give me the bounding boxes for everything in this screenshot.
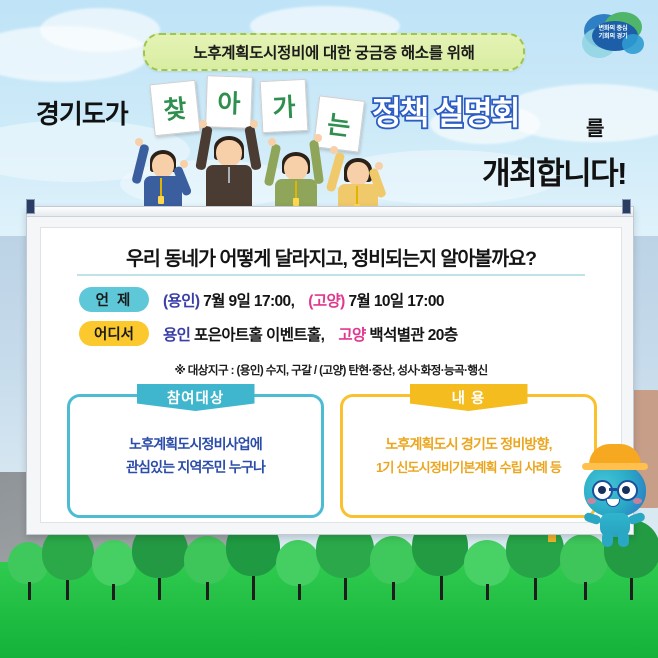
headline-title: 정책 설명회 — [372, 88, 519, 134]
gyeonggi-logo: 변화의 중심 기회의 경기 — [582, 12, 644, 62]
headline-prefix: 경기도가 — [36, 94, 128, 131]
headline-particle: 를 — [586, 112, 604, 141]
box-content-body: 노후계획도시 경기도 정비방향, 1기 신도시정비기본계획 수립 사례 등 — [343, 433, 594, 479]
panel-question: 우리 동네가 어떻게 달라지고, 정비되는지 알아볼까요? — [41, 242, 621, 271]
box-participants-line-1: 노후계획도시정비사업에 — [70, 433, 321, 456]
ribbon-text: 노후계획도시정비에 대한 궁금증 해소를 위해 — [193, 41, 474, 63]
mascot-cheek-left — [587, 498, 596, 504]
when-yongin-label: (용인) — [163, 293, 199, 310]
panel-divider — [77, 274, 585, 276]
target-districts-note: ※ 대상지구 : (용인) 수지, 구갈 / (고양) 탄현·중산, 성사·화정… — [41, 362, 621, 378]
when-badge: 언 제 — [79, 287, 149, 312]
mascot-leg-right — [618, 532, 629, 547]
mascot-leg-left — [602, 532, 613, 547]
top-ribbon-banner: 노후계획도시정비에 대한 궁금증 해소를 위해 — [143, 33, 525, 71]
when-goyang-time: 7월 10일 17:00 — [345, 293, 444, 310]
box-content-line-2: 1기 신도시정비기본계획 수립 사례 등 — [343, 456, 594, 479]
where-value: 용인 포은아트홀 이벤트홀,고양 백석별관 20층 — [163, 323, 457, 345]
billboard-clip-left — [26, 199, 35, 214]
billboard-clip-right — [622, 199, 631, 214]
logo-line-2: 기회의 경기 — [582, 33, 644, 41]
where-yongin-label: 용인 — [163, 327, 190, 344]
box-participants: 참여대상 노후계획도시정비사업에 관심있는 지역주민 누구나 — [67, 394, 324, 518]
info-boxes: 참여대상 노후계획도시정비사업에 관심있는 지역주민 누구나 내 용 노후계획도… — [67, 394, 597, 512]
when-yongin-time: 7월 9일 17:00, — [199, 293, 294, 310]
box-content: 내 용 노후계획도시 경기도 정비방향, 1기 신도시정비기본계획 수립 사례 … — [340, 394, 597, 518]
billboard-panel: 우리 동네가 어떻게 달라지고, 정비되는지 알아볼까요? 언 제 (용인) 7… — [26, 206, 634, 535]
when-value: (용인) 7월 9일 17:00,(고양) 7월 10일 17:00 — [163, 289, 444, 311]
headline-subtitle: 개최합니다! — [482, 148, 626, 193]
construction-mascot — [578, 444, 652, 548]
where-goyang-venue: 백석별관 20층 — [366, 327, 458, 344]
when-goyang-label: (고양) — [308, 293, 344, 310]
box-participants-header: 참여대상 — [137, 384, 255, 411]
box-participants-body: 노후계획도시정비사업에 관심있는 지역주민 누구나 — [70, 433, 321, 479]
panel-content: 우리 동네가 어떻게 달라지고, 정비되는지 알아볼까요? 언 제 (용인) 7… — [40, 227, 622, 523]
logo-text: 변화의 중심 기회의 경기 — [582, 25, 644, 42]
billboard-top-bar — [27, 207, 633, 217]
mascot-hardhat-brim — [582, 463, 648, 470]
box-content-line-1: 노후계획도시 경기도 정비방향, — [343, 433, 594, 456]
where-goyang-label: 고양 — [338, 327, 365, 344]
info-row-when: 언 제 (용인) 7월 9일 17:00,(고양) 7월 10일 17:00 — [79, 287, 444, 312]
where-badge: 어디서 — [79, 321, 149, 346]
info-row-where: 어디서 용인 포은아트홀 이벤트홀,고양 백석별관 20층 — [79, 321, 457, 346]
poster-root: 변화의 중심 기회의 경기 노후계획도시정비에 대한 궁금증 해소를 위해 경기… — [0, 0, 658, 658]
where-yongin-venue: 포은아트홀 이벤트홀, — [190, 327, 324, 344]
mascot-cheek-right — [633, 498, 642, 504]
box-content-header: 내 용 — [410, 384, 528, 411]
mascot-glasses-bridge — [609, 488, 617, 491]
box-participants-line-2: 관심있는 지역주민 누구나 — [70, 456, 321, 479]
mascot-eye-left — [592, 480, 613, 501]
